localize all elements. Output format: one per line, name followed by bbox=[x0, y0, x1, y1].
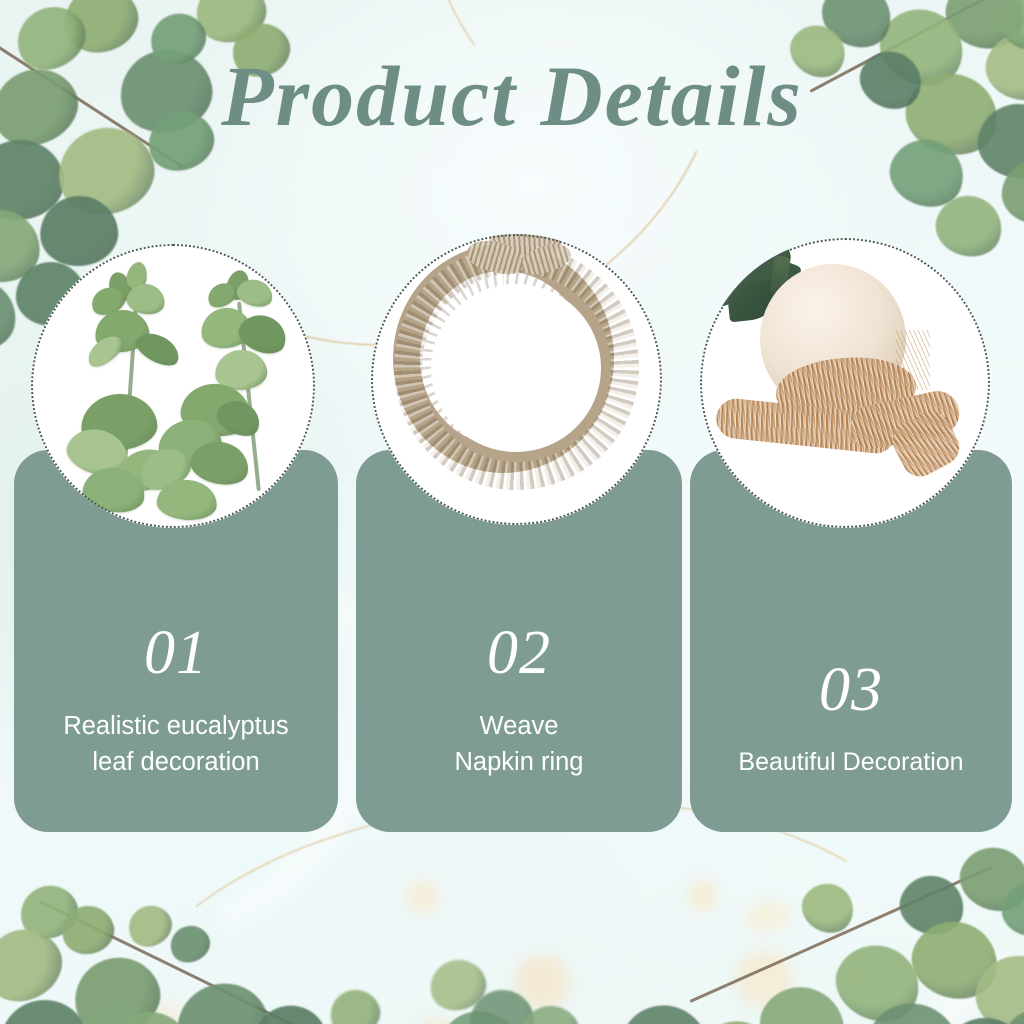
feature-card-01-body: 01 Realistic eucalyptus leaf decoration bbox=[14, 622, 338, 832]
feature-description-03: Beautiful Decoration bbox=[702, 745, 1000, 781]
product-photo-circle-02[interactable] bbox=[371, 234, 662, 525]
ring-inner-hole bbox=[431, 284, 601, 452]
feature-card-02-body: 02 Weave Napkin ring bbox=[356, 622, 682, 832]
product-photo-circle-03[interactable] bbox=[700, 238, 990, 528]
jute-napkin-ring-image bbox=[371, 234, 662, 525]
feature-description-01: Realistic eucalyptus leaf decoration bbox=[26, 708, 326, 780]
feature-number-01: 01 bbox=[26, 622, 326, 684]
feature-number-02: 02 bbox=[368, 622, 670, 684]
feature-description-02: Weave Napkin ring bbox=[368, 708, 670, 780]
infographic-canvas: Product Details 01 Realistic eucalyptus … bbox=[0, 0, 1024, 1024]
feature-number-03: 03 bbox=[702, 659, 1000, 721]
eucalyptus-leaves-image bbox=[31, 244, 315, 528]
feature-card-03-body: 03 Beautiful Decoration bbox=[690, 659, 1012, 833]
product-photo-circle-01[interactable] bbox=[31, 244, 315, 528]
raffia-wisp bbox=[896, 330, 930, 390]
pumpkin-ornament-image bbox=[700, 238, 990, 528]
